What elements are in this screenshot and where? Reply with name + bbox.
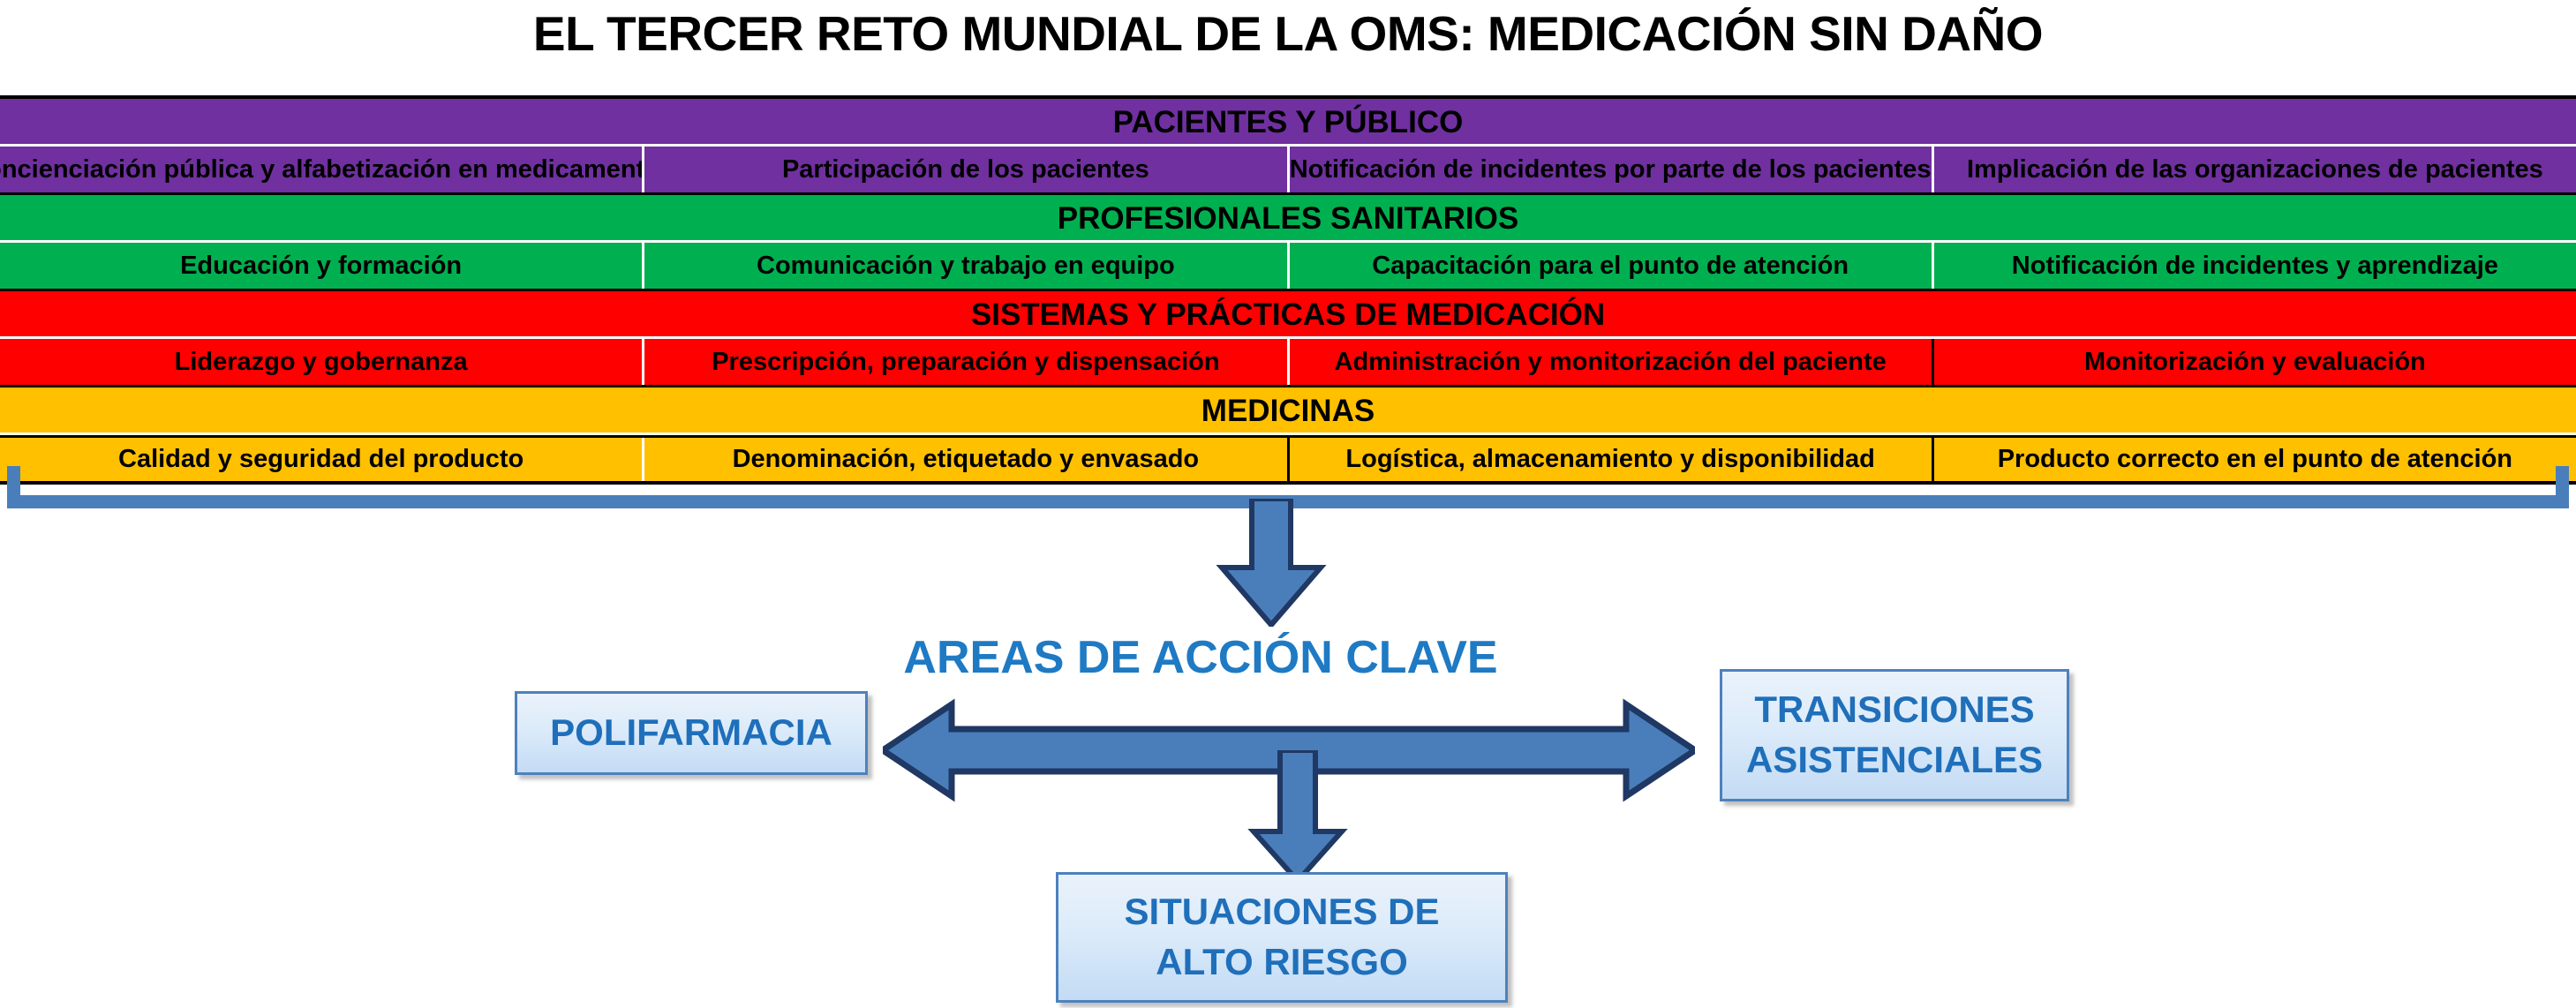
matrix-cell[interactable]: Administración y monitorización del paci… (1287, 339, 1932, 385)
box-transiciones-line2: ASISTENCIALES (1746, 735, 2043, 786)
matrix-cell[interactable]: Monitorización y evaluación (1932, 339, 2576, 385)
band-header-pacientes-y-publico: PACIENTES Y PÚBLICO (0, 99, 2576, 147)
matrix-cell[interactable]: Prescripción, preparación y dispensación (642, 339, 1286, 385)
matrix-cell[interactable]: Implicación de las organizaciones de pac… (1932, 147, 2576, 192)
box-situaciones-line2: ALTO RIESGO (1156, 937, 1407, 988)
box-polifarmacia[interactable]: POLIFARMACIA (515, 691, 868, 775)
matrix-cell[interactable]: Liderazgo y gobernanza (0, 339, 642, 385)
matrix-cell[interactable]: Capacitación para el punto de atención (1287, 243, 1932, 289)
matrix-cell[interactable]: Notificación de incidentes y aprendizaje (1932, 243, 2576, 289)
box-transiciones-line1: TRANSICIONES (1754, 685, 2034, 735)
matrix-cell[interactable]: Notificación de incidentes por parte de … (1287, 147, 1932, 192)
page-title: EL TERCER RETO MUNDIAL DE LA OMS: MEDICA… (0, 5, 2576, 62)
box-situaciones-alto-riesgo[interactable]: SITUACIONES DE ALTO RIESGO (1056, 872, 1508, 1003)
band-profesionales-sanitarios: PROFESIONALES SANITARIOS Educación y for… (0, 192, 2576, 289)
arrow-down-icon (1245, 750, 1351, 883)
matrix-cell[interactable]: Concienciación pública y alfabetización … (0, 147, 642, 192)
matrix-cell[interactable]: Comunicación y trabajo en equipo (642, 243, 1286, 289)
matrix-cell[interactable]: Participación de los pacientes (642, 147, 1286, 192)
box-polifarmacia-line1: POLIFARMACIA (550, 708, 832, 758)
diagram-canvas: EL TERCER RETO MUNDIAL DE LA OMS: MEDICA… (0, 0, 2576, 1008)
band-pacientes-y-publico: PACIENTES Y PÚBLICO Concienciación públi… (0, 99, 2576, 192)
box-situaciones-line1: SITUACIONES DE (1124, 887, 1439, 937)
box-transiciones-asistenciales[interactable]: TRANSICIONES ASISTENCIALES (1720, 669, 2069, 801)
matrix-cell[interactable]: Educación y formación (0, 243, 642, 289)
band-sistemas-y-practicas: SISTEMAS Y PRÁCTICAS DE MEDICACIÓN Lider… (0, 289, 2576, 385)
arrow-down-icon (1209, 499, 1333, 627)
band-header-sistemas-y-practicas: SISTEMAS Y PRÁCTICAS DE MEDICACIÓN (0, 291, 2576, 339)
band-header-profesionales-sanitarios: PROFESIONALES SANITARIOS (0, 195, 2576, 243)
band-cells-sistemas-y-practicas: Liderazgo y gobernanza Prescripción, pre… (0, 339, 2576, 385)
medication-safety-matrix: PACIENTES Y PÚBLICO Concienciación públi… (0, 95, 2576, 485)
band-cells-pacientes-y-publico: Concienciación pública y alfabetización … (0, 147, 2576, 192)
band-header-medicinas: MEDICINAS (0, 387, 2576, 435)
band-cells-profesionales-sanitarios: Educación y formación Comunicación y tra… (0, 243, 2576, 289)
areas-de-accion-clave-label: AREAS DE ACCIÓN CLAVE (883, 631, 1518, 684)
